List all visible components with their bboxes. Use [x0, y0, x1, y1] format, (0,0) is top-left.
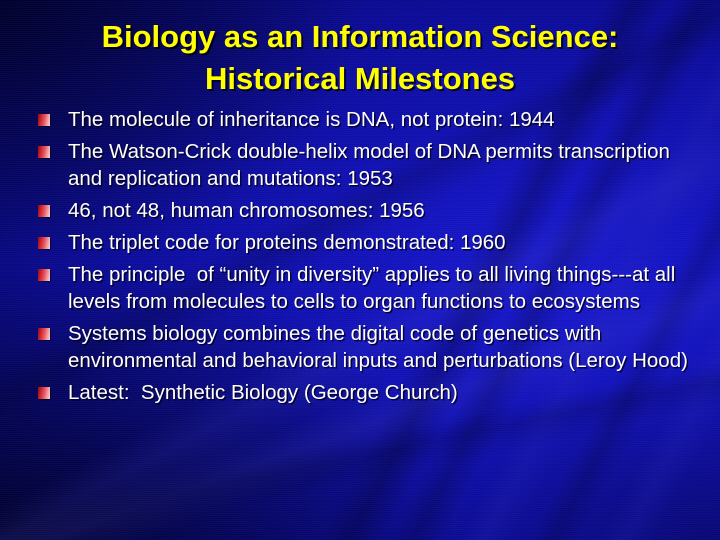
slide-title-line-1: Biology as an Information Science:: [0, 16, 720, 58]
bullet-item-text: The principle of “unity in diversity” ap…: [68, 263, 681, 313]
slide-title: Biology as an Information Science: Histo…: [0, 16, 720, 100]
bullet-item: The Watson-Crick double-helix model of D…: [34, 138, 694, 192]
presentation-slide: Biology as an Information Science: Histo…: [0, 0, 720, 540]
bullet-square-icon: [38, 114, 50, 126]
bullet-item: The molecule of inheritance is DNA, not …: [34, 106, 694, 133]
bullet-item: Systems biology combines the digital cod…: [34, 320, 694, 374]
bullet-item: The principle of “unity in diversity” ap…: [34, 261, 694, 315]
bullet-square-icon: [38, 328, 50, 340]
bullet-square-icon: [38, 387, 50, 399]
bullet-square-icon: [38, 146, 50, 158]
bullet-item: Latest: Synthetic Biology (George Church…: [34, 379, 694, 406]
bullet-item-text: The Watson-Crick double-helix model of D…: [68, 140, 676, 190]
bullet-item-text: 46, not 48, human chromosomes: 1956: [68, 199, 425, 222]
slide-bullet-list: The molecule of inheritance is DNA, not …: [34, 106, 694, 411]
bullet-square-icon: [38, 269, 50, 281]
bullet-item-text: The triplet code for proteins demonstrat…: [68, 231, 506, 254]
bullet-item: The triplet code for proteins demonstrat…: [34, 229, 694, 256]
bullet-item-text: The molecule of inheritance is DNA, not …: [68, 108, 555, 131]
slide-title-line-2: Historical Milestones: [0, 58, 720, 100]
bullet-square-icon: [38, 237, 50, 249]
bullet-item-text: Latest: Synthetic Biology (George Church…: [68, 381, 458, 404]
bullet-item: 46, not 48, human chromosomes: 1956: [34, 197, 694, 224]
bullet-square-icon: [38, 205, 50, 217]
bullet-item-text: Systems biology combines the digital cod…: [68, 322, 688, 372]
